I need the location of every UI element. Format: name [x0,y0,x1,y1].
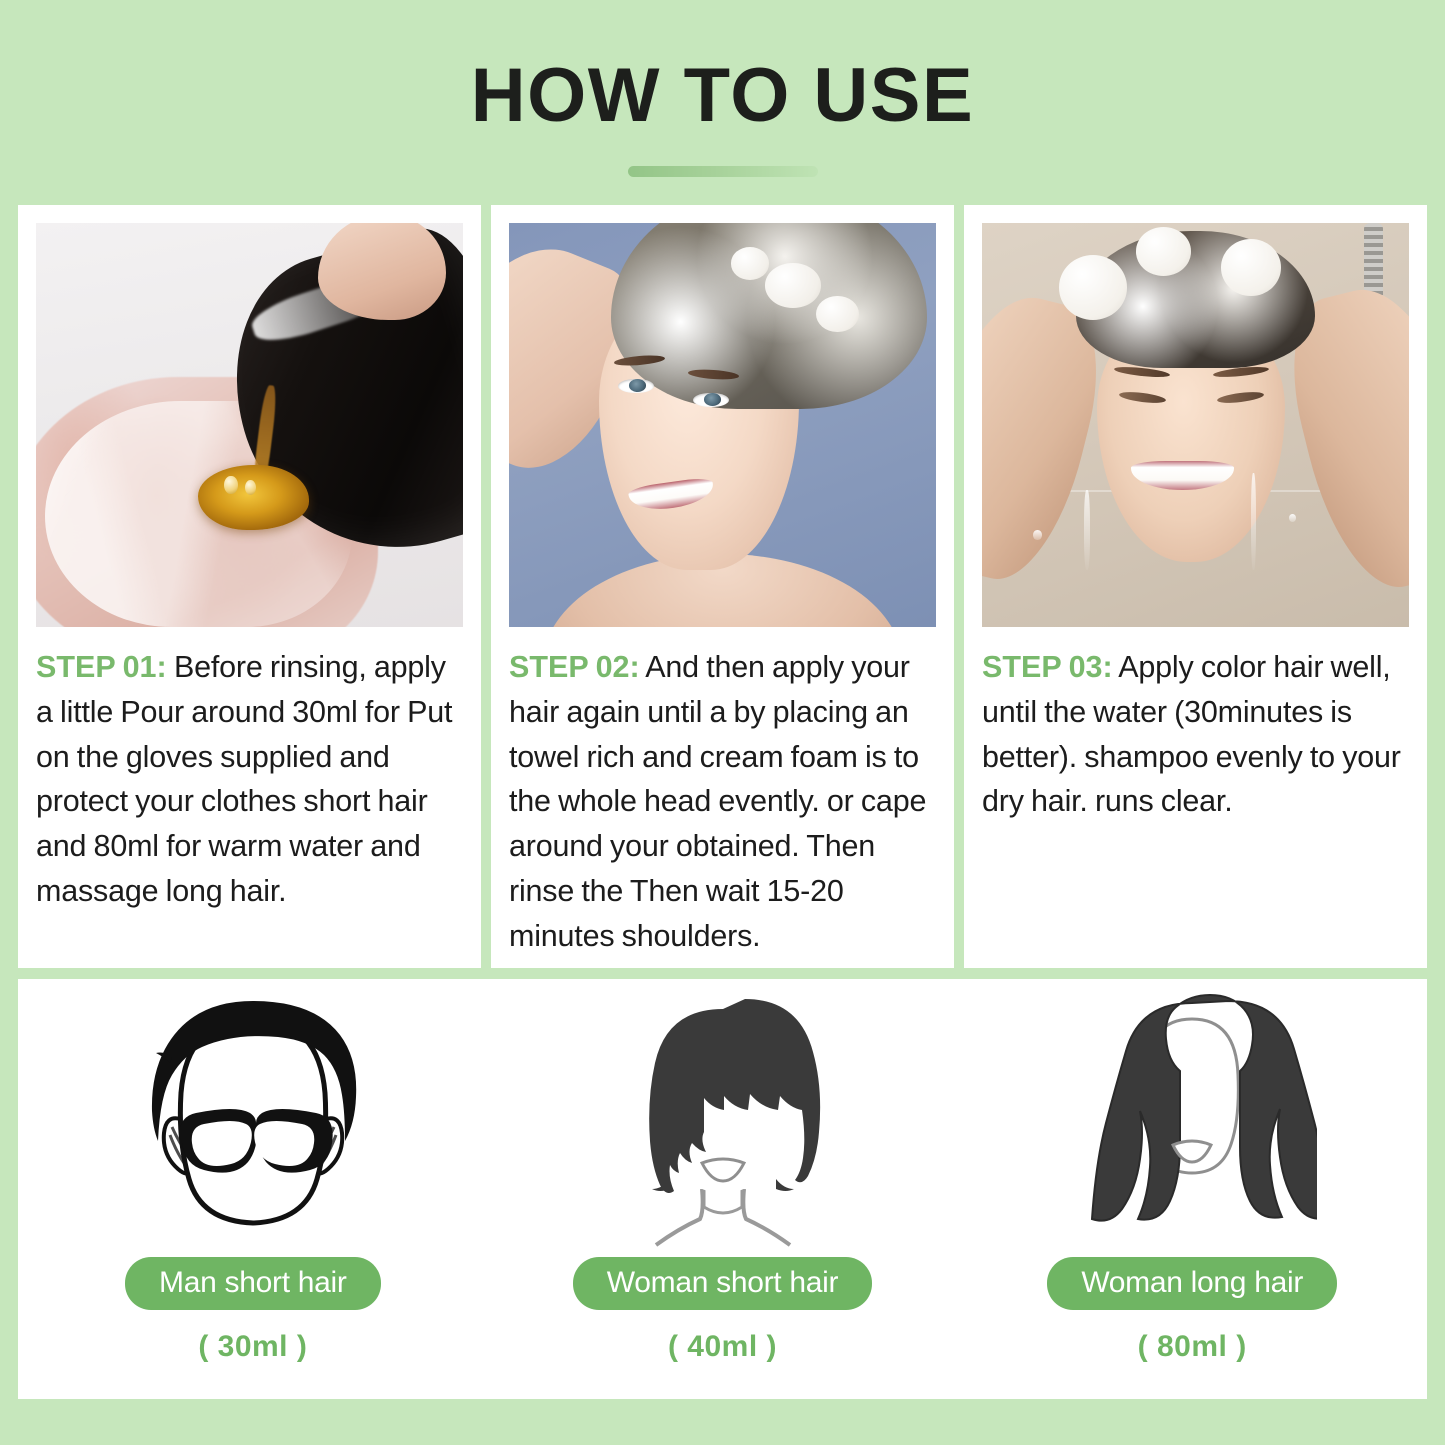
hair-type-volume-woman-short: ( 40ml ) [668,1330,777,1364]
foam-blob [1136,227,1192,275]
water-droplet [1033,530,1042,540]
header: HOW TO USE [0,58,1445,177]
foam-blob [765,263,821,307]
oil-bubble [224,476,238,495]
how-to-use-infographic: HOW TO USE STEP 01: Before rinsing, appl… [0,0,1445,1445]
woman-long-hair-icon [1067,993,1317,1251]
step-02-body: And then apply your hair again until a b… [509,650,926,953]
title-underline-bar [628,166,818,177]
hair-type-man-short: Man short hair ( 30ml ) [18,979,488,1399]
foam-blob [731,247,769,279]
step-02-photo [509,223,936,627]
step-02-label: STEP 02: [509,650,640,684]
hair-type-panel: Man short hair ( 30ml ) [18,979,1427,1399]
step-card-02: STEP 02: And then apply your hair again … [491,205,954,968]
foam-blob [1059,255,1127,320]
woman-short-hair-icon [598,993,848,1251]
step-03-label: STEP 03: [982,650,1113,684]
hair-type-woman-long: Woman long hair ( 80ml ) [957,979,1427,1399]
steps-row: STEP 01: Before rinsing, apply a little … [18,205,1427,968]
step-02-text: STEP 02: And then apply your hair again … [509,645,936,959]
step-card-01: STEP 01: Before rinsing, apply a little … [18,205,481,968]
man-short-hair-icon [128,993,378,1251]
step-01-photo [36,223,463,627]
step-03-text: STEP 03: Apply color hair well, until th… [982,645,1409,824]
oil-puddle [198,465,309,530]
step-01-label: STEP 01: [36,650,167,684]
hair-type-woman-short: Woman short hair ( 40ml ) [488,979,958,1399]
hair-type-label-woman-short[interactable]: Woman short hair [573,1257,872,1310]
hair-type-volume-man-short: ( 30ml ) [198,1330,307,1364]
hair-type-label-man-short[interactable]: Man short hair [125,1257,381,1310]
foam-blob [816,296,859,332]
step-01-text: STEP 01: Before rinsing, apply a little … [36,645,463,914]
hair-type-label-woman-long[interactable]: Woman long hair [1047,1257,1337,1310]
lathered-hair [611,223,927,409]
hair-type-volume-woman-long: ( 80ml ) [1138,1330,1247,1364]
step-card-03: STEP 03: Apply color hair well, until th… [964,205,1427,968]
thumb [318,223,446,320]
water-stream [1251,473,1256,570]
step-01-body: Before rinsing, apply a little Pour arou… [36,650,452,908]
page-title: HOW TO USE [0,58,1445,134]
foam-blob [1221,239,1281,296]
step-03-photo [982,223,1409,627]
